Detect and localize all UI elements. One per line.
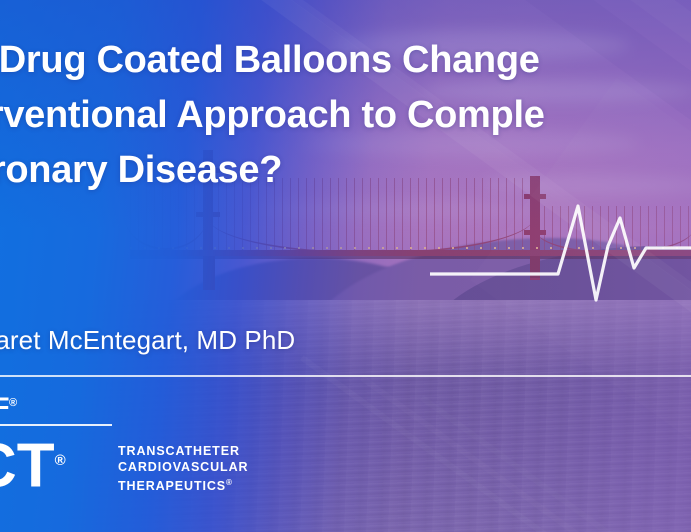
- footer-divider: [0, 375, 691, 377]
- speaker-name: rgaret McEntegart, MD PhD: [0, 325, 295, 356]
- title-line-1: ll Drug Coated Balloons Change: [0, 33, 691, 88]
- tct-subtitle-line-3-text: THERAPEUTICS: [118, 479, 226, 493]
- tct-subtitle-line-1: TRANSCATHETER: [118, 444, 248, 460]
- logo-lockup: RF® CT® TRANSCATHETER CARDIOVASCULAR THE…: [0, 388, 274, 508]
- tct-logo-subtitle: TRANSCATHETER CARDIOVASCULAR THERAPEUTIC…: [118, 444, 248, 495]
- logo-rule: [0, 424, 112, 426]
- ecg-heartbeat-icon: [430, 196, 691, 306]
- tct-subtitle-registered-mark: ®: [226, 478, 233, 487]
- title-line-3: oronary Disease?: [0, 143, 691, 198]
- presentation-slide: ll Drug Coated Balloons Change ervention…: [0, 0, 691, 532]
- tct-subtitle-line-3: THERAPEUTICS®: [118, 475, 248, 495]
- crf-logo-text: RF: [0, 392, 9, 422]
- crf-registered-mark: ®: [9, 397, 17, 409]
- tct-logo: CT®: [0, 428, 66, 500]
- tct-logo-text: CT: [0, 432, 55, 501]
- slide-title: ll Drug Coated Balloons Change ervention…: [0, 33, 691, 198]
- diagonal-streak: [420, 395, 691, 532]
- tct-subtitle-line-2: CARDIOVASCULAR: [118, 460, 248, 476]
- tct-registered-mark: ®: [55, 452, 66, 469]
- crf-logo: RF®: [0, 388, 17, 422]
- title-line-2: erventional Approach to Comple: [0, 88, 691, 143]
